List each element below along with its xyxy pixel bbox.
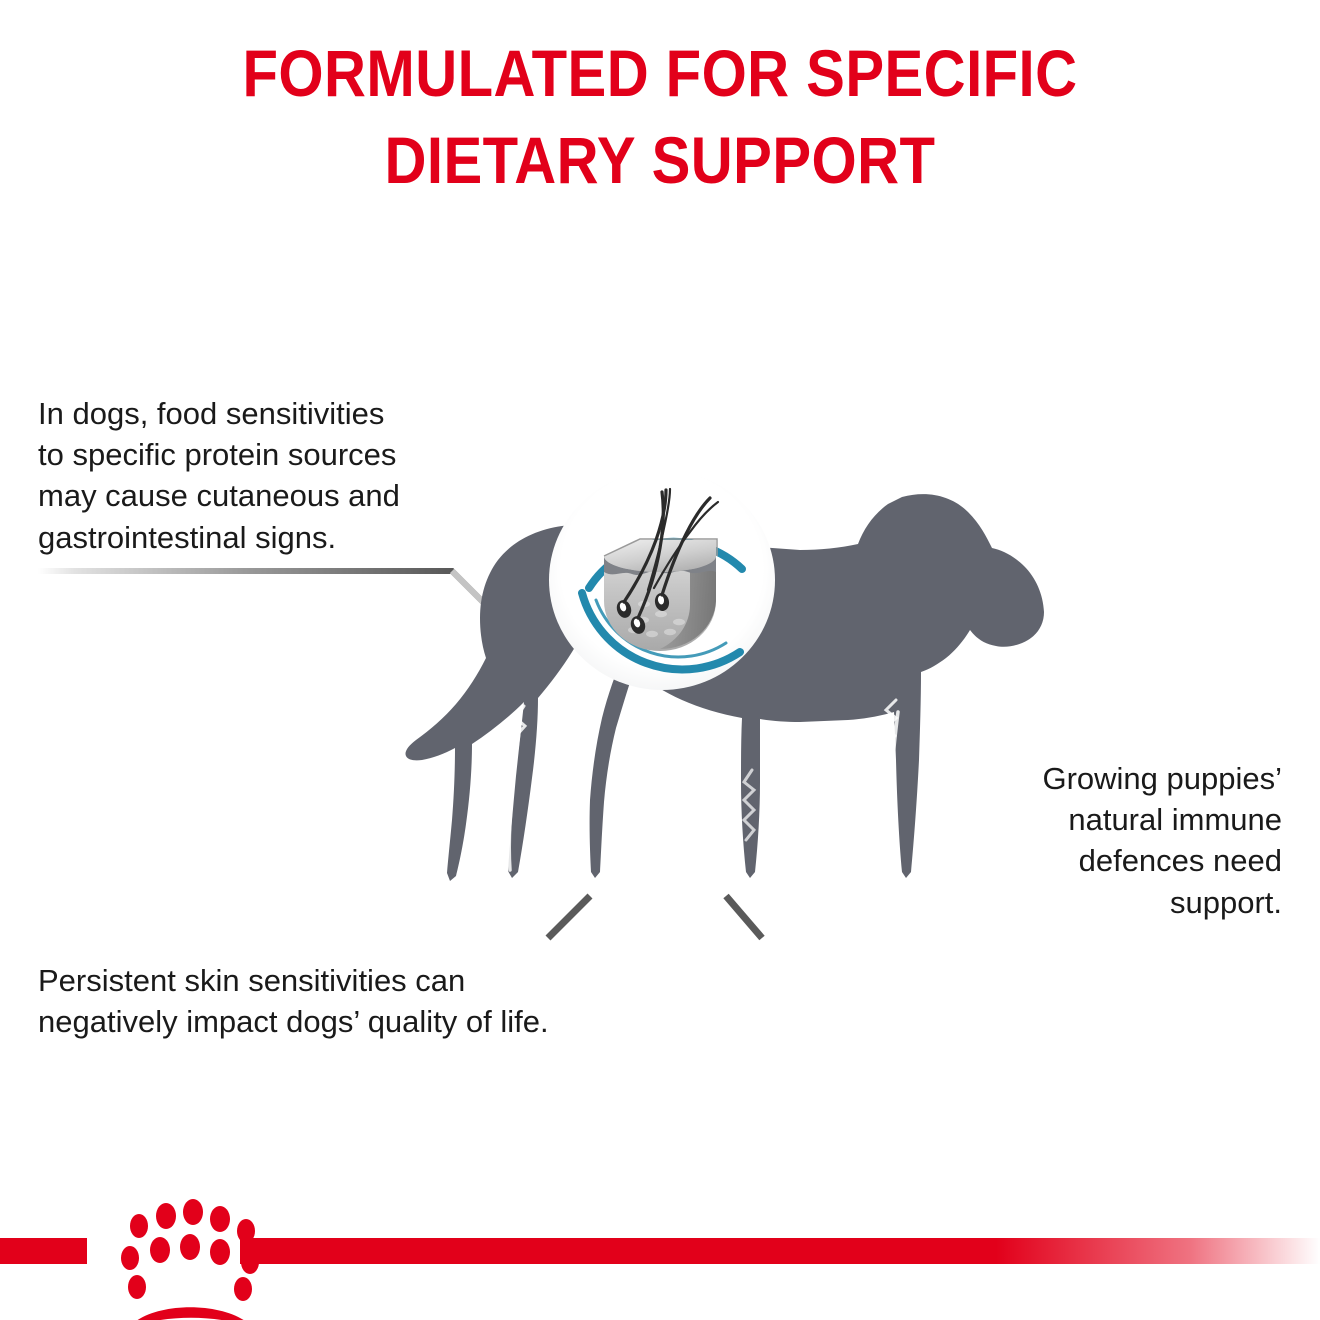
footer-bar-right	[240, 1238, 1320, 1264]
callout-text-top-left: In dogs, food sensitivities to specific …	[38, 393, 508, 558]
leader-line-bottom-left	[38, 896, 590, 938]
footer-bar-left	[0, 1238, 87, 1264]
infographic-page: FORMULATED FOR SPECIFIC DIETARY SUPPORT	[0, 0, 1320, 1320]
callout-text-right: Growing puppies’ natural immune defences…	[952, 758, 1282, 923]
callout-text-bottom-left: Persistent skin sensitivities can negati…	[38, 960, 698, 1042]
leader-line-top-left	[38, 571, 497, 616]
royal-canin-crown-logo	[121, 1199, 259, 1320]
illustration-artwork	[0, 0, 1320, 1320]
footer-brand-bar	[0, 1190, 1320, 1320]
